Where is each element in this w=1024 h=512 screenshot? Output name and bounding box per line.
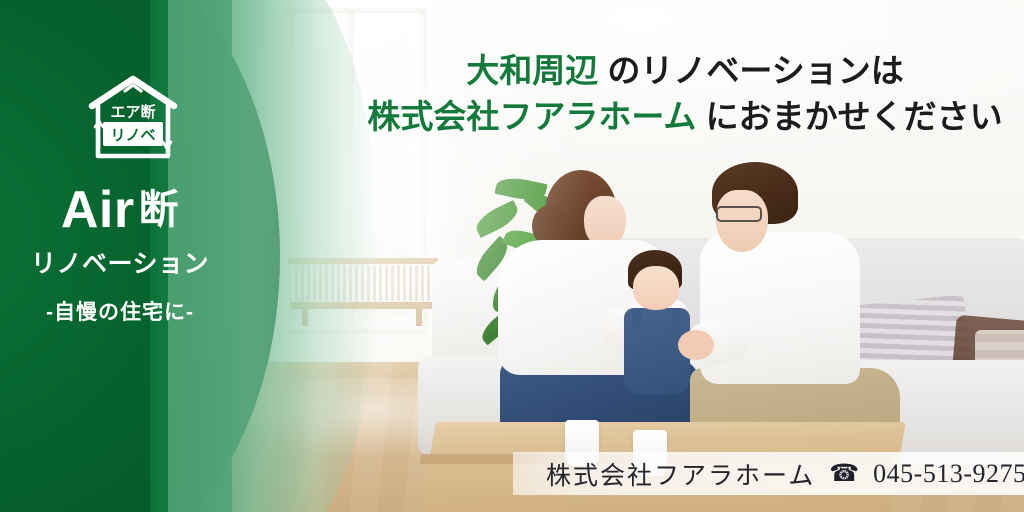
child-face — [633, 266, 679, 310]
logo-roof-label: エア断 — [110, 103, 155, 121]
headline-line-1: 大和周辺 のリノベーションは — [360, 48, 1010, 94]
headline-company: 株式会社フアラホーム — [367, 98, 696, 135]
headline: 大和周辺 のリノベーションは 株式会社フアラホーム におまかせください — [360, 48, 1010, 139]
brand-subtitle: リノベーション — [0, 244, 240, 280]
headline-line-2: 株式会社フアラホーム におまかせください — [360, 94, 1010, 140]
renovation-banner: エア断 リノベ Air断 リノベーション -自慢の住宅に- 大和周辺 のリノベー… — [0, 0, 1024, 512]
roof-line — [92, 79, 174, 106]
headline-location: 大和周辺 — [466, 52, 598, 89]
brand-tagline: -自慢の住宅に- — [0, 296, 240, 326]
brand-name-kanji: 断 — [139, 188, 180, 232]
overall-strap — [672, 308, 681, 330]
headline-line2-rest: におまかせください — [696, 98, 1002, 135]
man-hand — [678, 330, 714, 360]
brand-name: Air断 — [0, 184, 240, 236]
headline-line1-rest: のリノベーションは — [598, 52, 904, 89]
glasses-icon — [716, 206, 762, 222]
green-brand-panel: エア断 リノベ Air断 リノベーション -自慢の住宅に- — [0, 0, 300, 512]
brand-name-latin: Air — [61, 181, 135, 239]
logo-box-label: リノベ — [110, 127, 155, 144]
telephone-icon: ☎ — [829, 462, 859, 486]
footer-phone-number[interactable]: 045-513-9275 — [873, 459, 1024, 489]
brand-lockup: Air断 リノベーション — [0, 184, 240, 280]
bench-leg — [416, 308, 422, 326]
overall-strap — [632, 308, 641, 330]
house-outline-logo: エア断 リノベ — [78, 72, 188, 164]
footer-contact-inner: 株式会社フアラホーム ☎ 045-513-9275 — [546, 456, 1024, 492]
footer-company-name: 株式会社フアラホーム — [546, 456, 815, 492]
footer-contact-bar: 株式会社フアラホーム ☎ 045-513-9275 — [513, 452, 1024, 495]
